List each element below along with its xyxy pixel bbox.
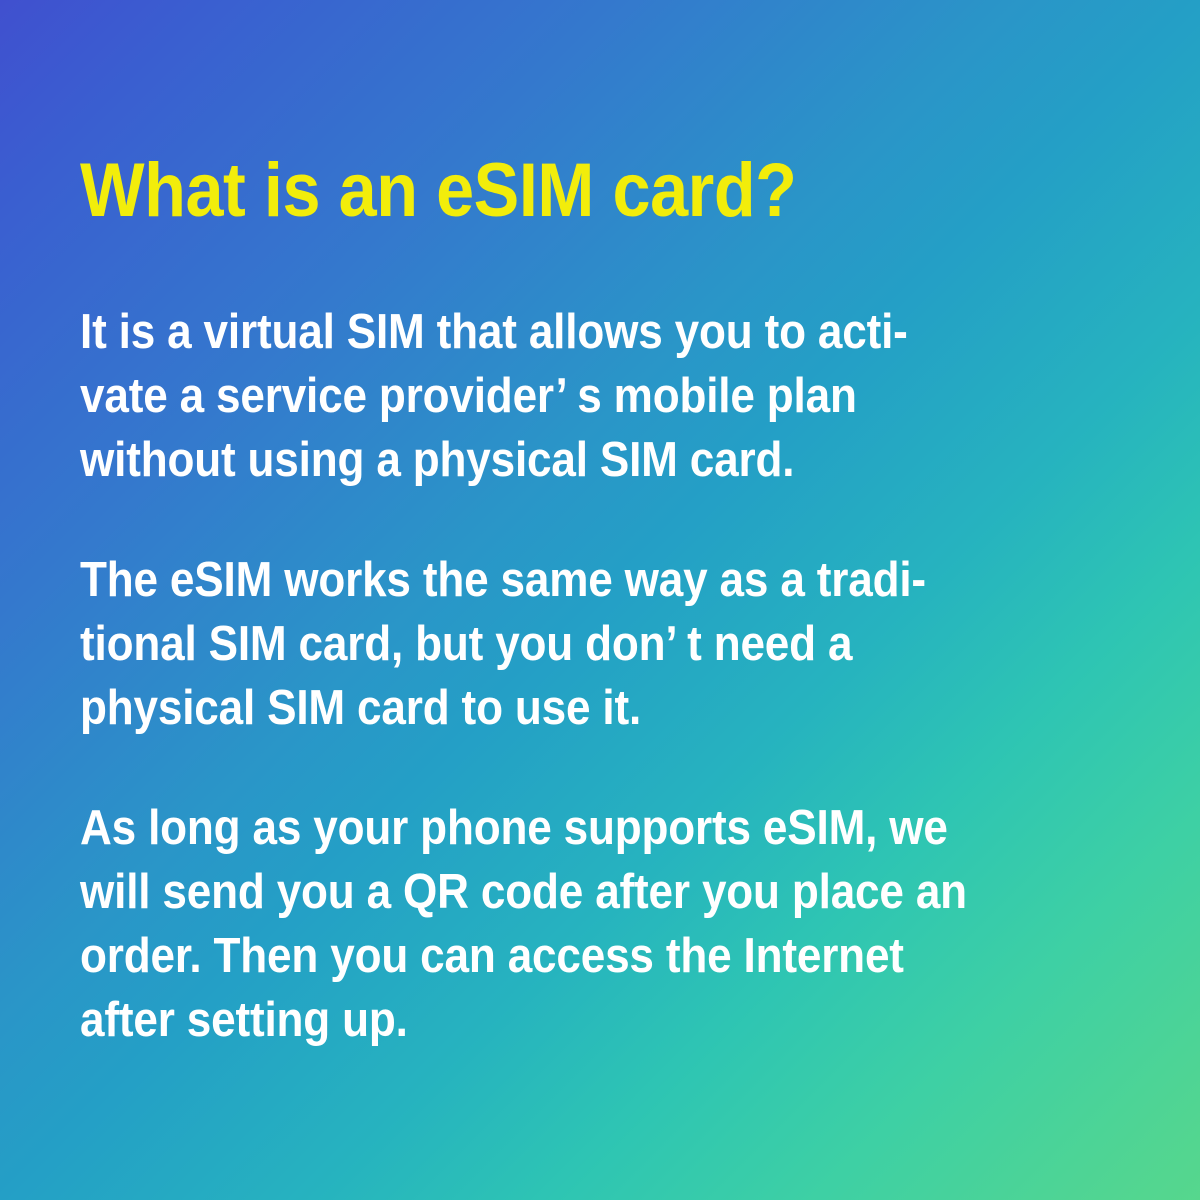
paragraph-qr-delivery: As long as your phone supports eSIM, we … bbox=[80, 796, 989, 1052]
paragraph-definition: It is a virtual SIM that allows you to a… bbox=[80, 300, 989, 492]
page-title: What is an eSIM card? bbox=[80, 0, 989, 234]
paragraph-how-it-works: The eSIM works the same way as a tradi- … bbox=[80, 548, 989, 740]
esim-info-poster: What is an eSIM card? It is a virtual SI… bbox=[0, 0, 1200, 1200]
poster-content: What is an eSIM card? It is a virtual SI… bbox=[80, 0, 1090, 1052]
